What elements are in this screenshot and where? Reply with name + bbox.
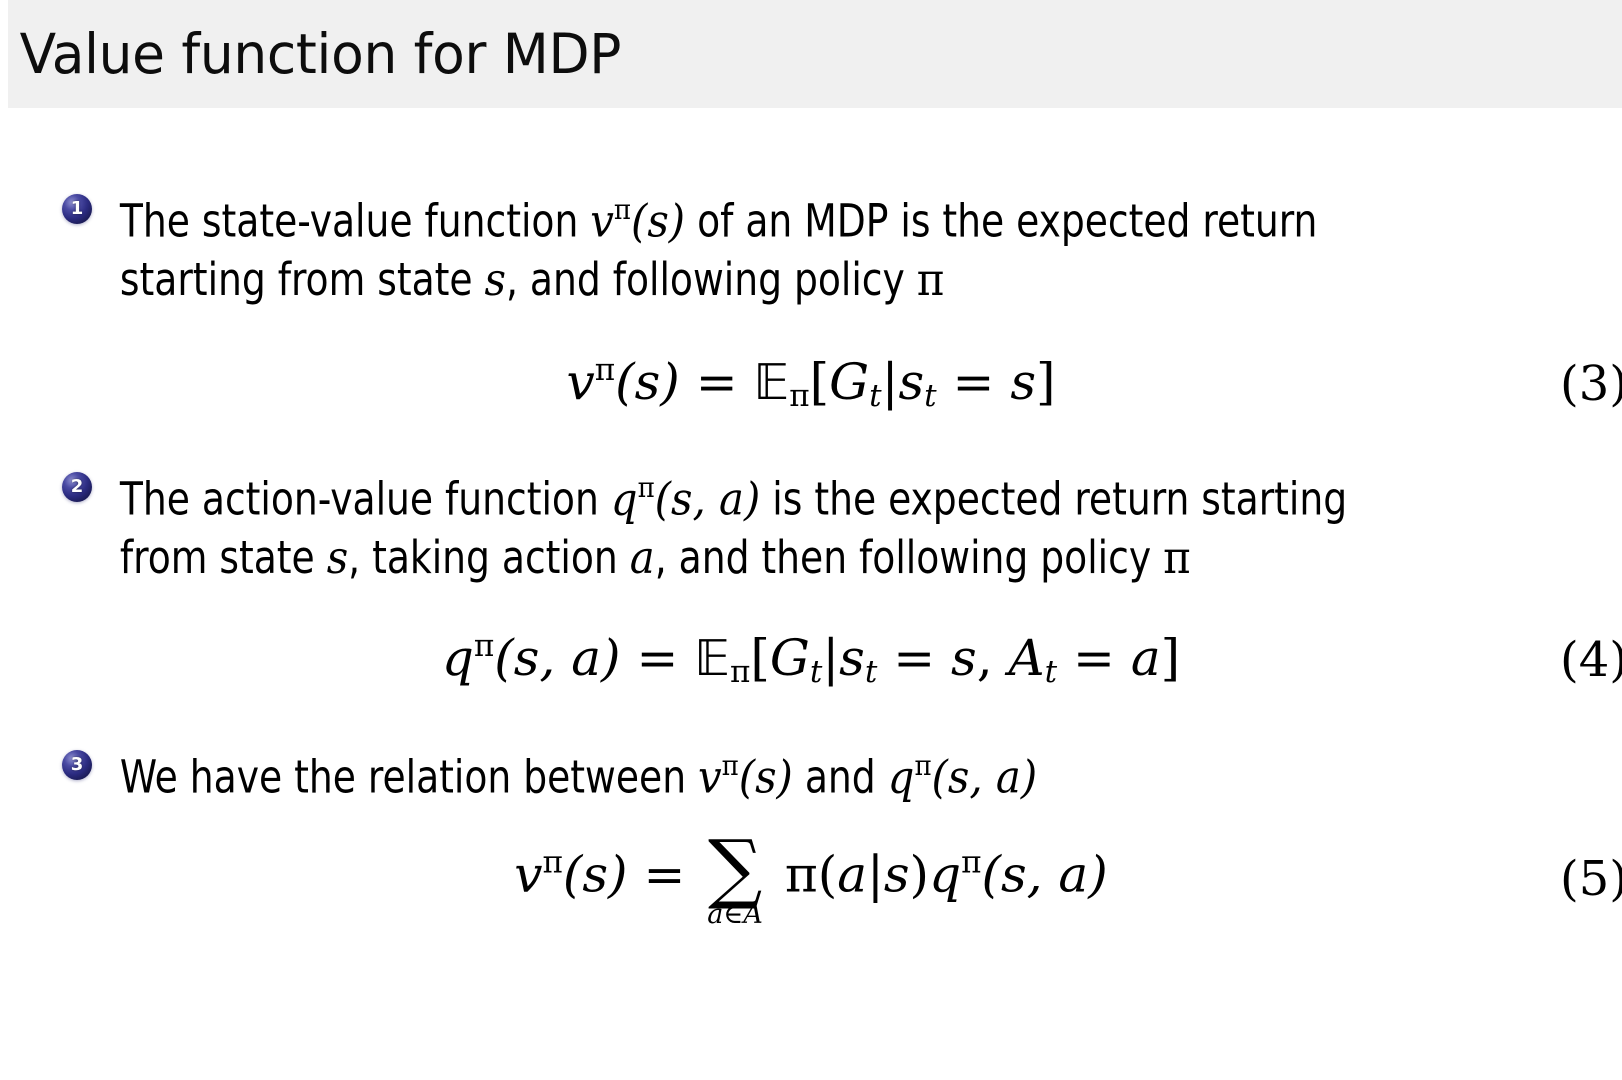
item2-state-s: s (327, 531, 348, 584)
sigma-icon: ∑ (708, 837, 762, 899)
sum-index-a: a (707, 899, 723, 930)
slide-header-bar: Value function for MDP (8, 0, 1622, 108)
eq5-pi: π (785, 846, 818, 904)
eq4-lhs-var: q (442, 629, 474, 687)
eq4-s-sub: t (865, 654, 877, 690)
item3-arg-s: (s) (739, 750, 793, 803)
item3-text-b: and (805, 750, 876, 803)
eq3-expectation-symbol: 𝔼 (754, 354, 790, 411)
element-of-icon: ∈ (723, 899, 743, 930)
equation-3: vπ(s) = 𝔼π[Gt|st = s] (567, 355, 1056, 412)
equation-3-row: vπ(s) = 𝔼π[Gt|st = s] (3) (0, 355, 1622, 412)
item1-text-b: of an MDP is the expected return (697, 194, 1317, 247)
eq4-G: G (770, 629, 810, 687)
eq4-expectation-symbol: 𝔼 (694, 630, 730, 687)
list-item-text: The action-value function qπ(s, a) is th… (92, 458, 1459, 587)
eq4-equals2: = (893, 629, 935, 687)
list-item-text: We have the relation between vπ(s) and q… (92, 736, 1459, 806)
bullet-marker-1: 1 (62, 194, 92, 224)
eq4-open-bracket: [ (750, 629, 770, 687)
eq5-q-arg: (s, a) (981, 846, 1107, 904)
item1-arg-s: (s) (631, 194, 685, 247)
slide-content: 1 The state-value function vπ(s) of an M… (0, 108, 1622, 1080)
eq3-equals: = (696, 353, 738, 411)
item2-text-a: The action-value function (120, 472, 599, 525)
item2-policy-pi: π (1163, 531, 1191, 584)
eq5-q-sup: π (961, 844, 981, 880)
eq5-equals: = (643, 846, 685, 904)
summation-index: a∈A (707, 901, 763, 928)
eq5-pi-open: ( (818, 846, 838, 904)
item2-text-b: is the expected return starting (772, 472, 1347, 525)
eq4-expectation-sub: π (730, 654, 750, 690)
item3-text-a: We have the relation between (120, 750, 686, 803)
item3-v-sup-pi: π (722, 749, 739, 782)
item2-text-e: , and then following policy (655, 531, 1151, 584)
equation-4-number: (4) (1560, 636, 1622, 684)
eq4-A-sub: t (1045, 654, 1057, 690)
item3-var-q: q (888, 750, 915, 803)
eq3-s2: s (1010, 353, 1036, 411)
eq5-pi-bar: | (867, 846, 884, 904)
eq4-comma: , (977, 629, 993, 687)
eq3-s: s (898, 353, 924, 411)
item1-policy-pi: π (917, 253, 945, 306)
equation-4-row: qπ(s, a) = 𝔼π[Gt|st = s, At = a] (4) (0, 631, 1622, 688)
eq4-A: A (1009, 629, 1045, 687)
equation-3-number: (3) (1560, 360, 1622, 408)
eq4-lhs-arg: (s, a) (494, 629, 620, 687)
eq3-close-bracket: ] (1036, 353, 1056, 411)
eq3-bar: | (882, 353, 899, 411)
list-item: 2 The action-value function qπ(s, a) is … (62, 458, 1562, 587)
eq3-equals2: = (953, 353, 995, 411)
sum-index-A: A (743, 899, 763, 930)
item2-text-d: , taking action (348, 531, 618, 584)
item1-var-v: v (590, 194, 614, 247)
eq5-q: q (929, 846, 961, 904)
eq3-lhs-var: v (567, 353, 595, 411)
item2-var-q: q (611, 472, 638, 525)
eq4-bar: | (822, 629, 839, 687)
item1-text-a: The state-value function (120, 194, 578, 247)
eq5-lhs-arg: (s) (563, 846, 628, 904)
equation-4: qπ(s, a) = 𝔼π[Gt|st = s, At = a] (442, 631, 1180, 688)
eq3-s-sub: t (924, 378, 936, 414)
item1-text-c: starting from state (120, 253, 473, 306)
item1-state-s: s (485, 253, 506, 306)
list-item: 1 The state-value function vπ(s) of an M… (62, 180, 1562, 309)
eq4-close-bracket: ] (1161, 629, 1181, 687)
bullet-marker-3: 3 (62, 750, 92, 780)
eq4-equals3: = (1073, 629, 1115, 687)
eq4-s: s (839, 629, 865, 687)
page-title: Value function for MDP (8, 27, 621, 82)
eq4-a: a (1131, 629, 1161, 687)
item1-sup-pi: π (614, 193, 631, 226)
item2-action-a: a (630, 531, 655, 584)
eq5-pi-close: ) (910, 846, 930, 904)
eq4-s2: s (951, 629, 977, 687)
item2-sup-pi: π (638, 471, 655, 504)
item1-text-d: , and following policy (506, 253, 905, 306)
item3-q-sup-pi: π (914, 749, 931, 782)
eq5-pi-s: s (884, 846, 910, 904)
eq5-lhs-var: v (514, 846, 542, 904)
eq3-G-sub: t (869, 378, 881, 414)
eq3-lhs-sup: π (595, 352, 615, 388)
list-item-text: The state-value function vπ(s) of an MDP… (92, 180, 1459, 309)
item3-arg-sa: (s, a) (932, 750, 1038, 803)
eq4-equals: = (636, 629, 678, 687)
eq5-pi-a: a (837, 846, 867, 904)
item2-arg-sa: (s, a) (655, 472, 761, 525)
equation-5-number: (5) (1560, 855, 1622, 903)
eq3-G: G (829, 353, 869, 411)
eq3-expectation-sub: π (789, 378, 809, 414)
eq4-G-sub: t (810, 654, 822, 690)
eq3-lhs-arg: (s) (615, 353, 680, 411)
eq5-lhs-sup: π (543, 844, 563, 880)
list-item: 3 We have the relation between vπ(s) and… (62, 736, 1562, 806)
item2-text-c: from state (120, 531, 315, 584)
eq4-lhs-sup: π (474, 628, 494, 664)
equation-5-row: vπ(s) = ∑ a∈A π(a|s)qπ(s, a) (5) (0, 833, 1622, 924)
summation-group: ∑ a∈A (707, 837, 763, 928)
equation-5: vπ(s) = ∑ a∈A π(a|s)qπ(s, a) (514, 833, 1107, 924)
item3-var-v: v (698, 750, 722, 803)
eq3-open-bracket: [ (810, 353, 830, 411)
bullet-marker-2: 2 (62, 472, 92, 502)
